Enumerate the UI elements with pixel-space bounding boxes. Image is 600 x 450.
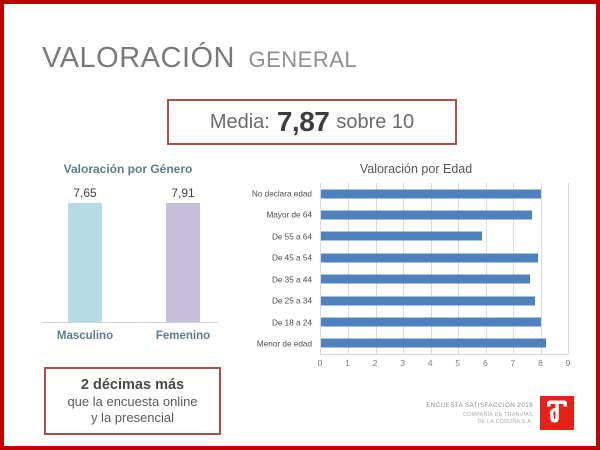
age-category-label: Mayor de 64 <box>266 211 312 220</box>
age-bar <box>321 275 530 284</box>
age-category-labels: No declara edadMayor de 64De 55 a 64De 4… <box>232 183 316 355</box>
callout-line-2: que la encuesta online <box>67 394 197 410</box>
age-category-label: No declara edad <box>252 189 312 198</box>
age-tick-label: 7 <box>511 358 516 368</box>
chart-age: Valoración por Edad No declara edadMayor… <box>232 162 580 387</box>
company-logo-icon <box>540 396 574 430</box>
age-gridline <box>486 183 487 354</box>
age-gridline <box>513 183 514 354</box>
age-tick-label: 1 <box>345 358 350 368</box>
footer-survey-title: ENCUESTA SATISFACCIÓN 2019 <box>426 402 533 409</box>
age-category-label: De 35 a 44 <box>272 275 312 284</box>
media-label: Media: <box>210 111 270 134</box>
gender-column-femenino: 7,91 <box>166 186 200 323</box>
age-bar <box>321 232 482 241</box>
chart-gender-title: Valoración por Género <box>30 162 226 176</box>
age-tick-label: 9 <box>566 358 571 368</box>
gender-category-femenino: Femenino <box>143 330 223 342</box>
footer-company-line-2: DE LA CORUÑA S.A. <box>426 419 533 425</box>
chart-gender: Valoración por Género 7,65 7,91 Masculin… <box>30 162 226 342</box>
age-tick-label: 4 <box>428 358 433 368</box>
media-suffix: sobre 10 <box>336 111 414 134</box>
age-bar <box>321 339 546 348</box>
title-sub: GENERAL <box>248 47 357 72</box>
age-bar <box>321 317 541 326</box>
age-gridline <box>431 183 432 354</box>
chart-age-body: No declara edadMayor de 64De 55 a 64De 4… <box>232 183 580 355</box>
age-category-label: De 55 a 64 <box>272 232 312 241</box>
chart-gender-plot: 7,65 7,91 <box>38 186 218 323</box>
slide-canvas: VALORACIÓN GENERAL Media: 7,87 sobre 10 … <box>0 0 600 450</box>
age-gridline <box>458 183 459 354</box>
callout-box: 2 décimas más que la encuesta online y l… <box>44 367 221 435</box>
chart-age-title: Valoración por Edad <box>252 162 580 176</box>
gender-value-femenino: 7,91 <box>171 186 194 200</box>
age-category-label: De 25 a 34 <box>272 297 312 306</box>
age-category-label: Menor de edad <box>257 340 312 349</box>
age-gridline <box>568 183 569 354</box>
gender-category-labels: Masculino Femenino <box>38 323 218 347</box>
gender-category-masculino: Masculino <box>45 330 125 342</box>
age-category-label: De 18 a 24 <box>272 318 312 327</box>
age-tick-label: 3 <box>400 358 405 368</box>
callout-line-3: y la presencial <box>91 410 174 426</box>
age-gridline <box>376 183 377 354</box>
age-bar <box>321 211 532 220</box>
age-tick-label: 8 <box>538 358 543 368</box>
age-tick-label: 6 <box>483 358 488 368</box>
footer-company-line-1: COMPAÑÍA DE TRANVÍAS <box>426 412 533 418</box>
media-score-box: Media: 7,87 sobre 10 <box>167 99 457 145</box>
age-plot-area <box>320 183 568 355</box>
age-category-label: De 45 a 54 <box>272 254 312 263</box>
age-tick-label: 0 <box>318 358 323 368</box>
age-bar <box>321 296 535 305</box>
age-gridline <box>403 183 404 354</box>
gender-value-masculino: 7,65 <box>73 186 96 200</box>
gender-column-masculino: 7,65 <box>68 186 102 323</box>
callout-headline: 2 décimas más <box>81 377 184 393</box>
age-tick-label: 2 <box>373 358 378 368</box>
media-value: 7,87 <box>277 106 330 138</box>
gender-bar-masculino <box>68 203 102 323</box>
gender-bar-femenino <box>166 203 200 323</box>
age-tick-label: 5 <box>455 358 460 368</box>
age-gridline <box>541 183 542 354</box>
title-main: VALORACIÓN <box>42 42 235 74</box>
age-axis-ticks: 0123456789 <box>320 355 568 371</box>
footer: ENCUESTA SATISFACCIÓN 2019 COMPAÑÍA DE T… <box>426 396 574 430</box>
page-title: VALORACIÓN GENERAL <box>42 42 357 75</box>
age-bar <box>321 253 538 262</box>
footer-text: ENCUESTA SATISFACCIÓN 2019 COMPAÑÍA DE T… <box>426 402 533 425</box>
age-gridline <box>348 183 349 354</box>
age-bar <box>321 189 541 198</box>
